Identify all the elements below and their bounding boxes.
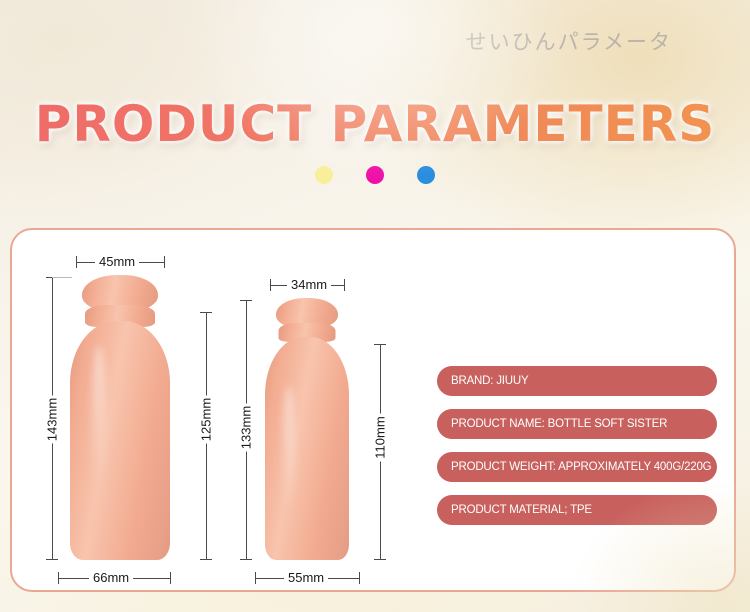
dot-yellow-icon [315,166,333,184]
dot-magenta-icon [366,166,384,184]
spec-label-name: PRODUCT NAME: BOTTLE SOFT SISTER [451,418,667,430]
large-body-tick-bot [200,559,212,560]
large-height-tick-bot [46,559,58,560]
large-top-tick-left [76,256,77,268]
large-bottom-tick-left [58,572,59,584]
spec-row-brand: BRAND: JIUUY [437,366,717,396]
spec-label-material: PRODUCT MATERIAL; TPE [451,504,592,516]
decorative-dots [0,166,750,184]
spec-label-brand: BRAND: JIUUY [451,375,528,387]
small-body-tick-bot [374,559,386,560]
title-block: PRODUCT PARAMETERS PRODUCT PARAMETERS [0,0,750,170]
dot-blue-icon [417,166,435,184]
small-top-tick-right [344,279,345,291]
product-parameters-infographic: せいひんパラメータ PRODUCT PARAMETERS PRODUCT PAR… [0,0,750,612]
large-bottom-width-label: 66mm [89,570,133,585]
large-top-width-label: 45mm [95,254,139,269]
small-body-tick-top [374,344,386,345]
spec-label-weight: PRODUCT WEIGHT: APPROXIMATELY 400G/220G [451,461,711,473]
small-height-tick-top [240,300,252,301]
small-height-tick-bot [240,559,252,560]
large-bottom-tick-right [170,572,171,584]
small-bottom-tick-right [359,572,360,584]
large-top-tick-right [164,256,165,268]
small-bottle-figure [265,298,349,560]
large-body-height-label: 125mm [197,396,216,444]
small-total-height-label: 133mm [237,404,256,452]
small-top-width-label: 34mm [287,277,331,292]
spec-list: BRAND: JIUUY PRODUCT NAME: BOTTLE SOFT S… [437,366,717,538]
spec-row-product-name: PRODUCT NAME: BOTTLE SOFT SISTER [437,409,717,439]
small-body-height-label: 110mm [371,414,390,462]
small-bottom-width-label: 55mm [284,570,328,585]
small-bottom-tick-left [255,572,256,584]
page-title: PRODUCT PARAMETERS [0,95,750,153]
small-bottle-body [265,337,349,560]
large-bottle-figure [70,275,170,560]
large-bottle-highlight [92,345,106,495]
spec-row-product-material: PRODUCT MATERIAL; TPE [437,495,717,525]
large-total-height-label: 143mm [43,396,62,444]
large-body-tick-top [200,312,212,313]
large-height-guide-top [52,277,72,278]
spec-row-product-weight: PRODUCT WEIGHT: APPROXIMATELY 400G/220G [437,452,717,482]
small-bottle-highlight [283,386,295,516]
small-top-tick-left [270,279,271,291]
large-bottle-body [70,321,170,560]
